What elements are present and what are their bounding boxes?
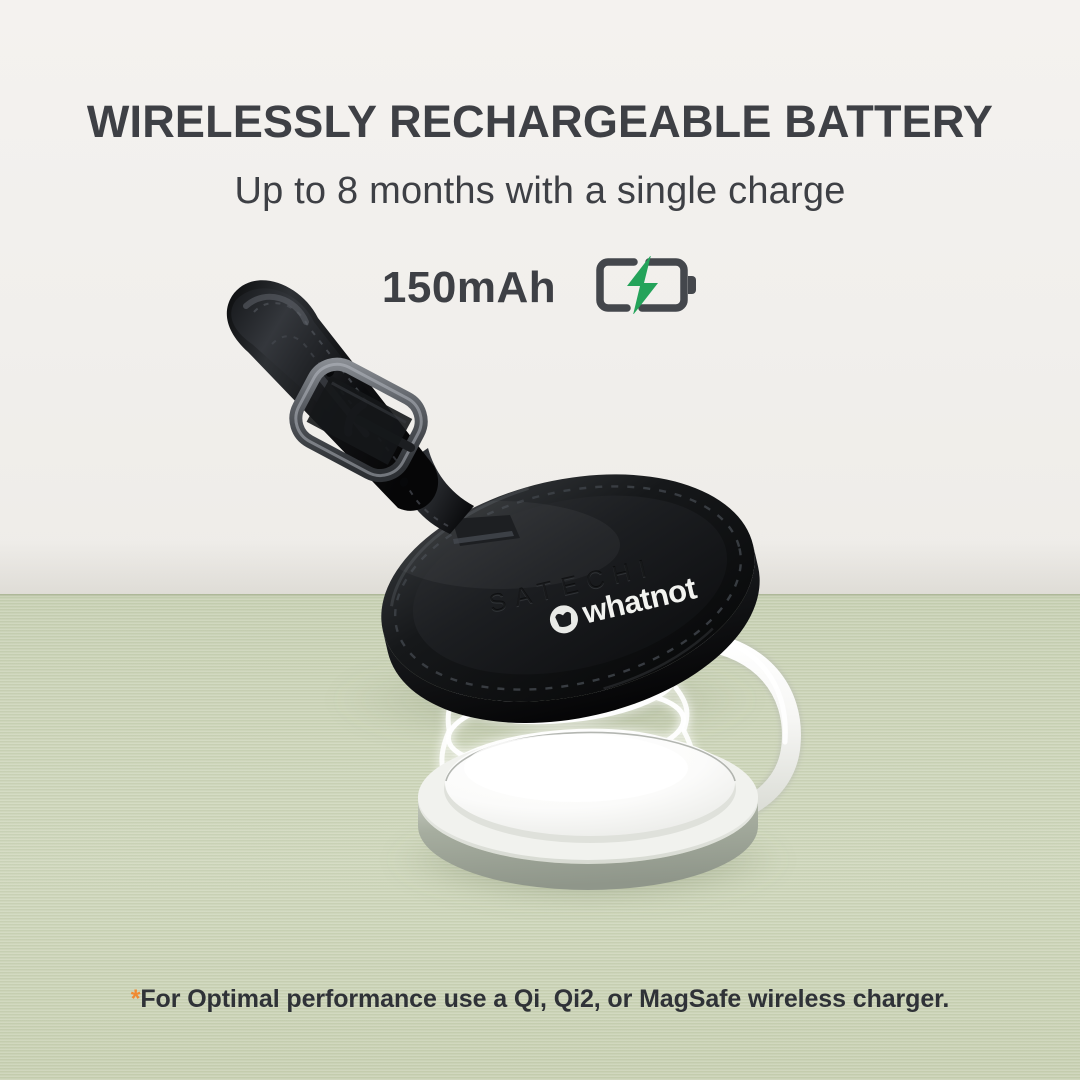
footnote-text: For Optimal performance use a Qi, Qi2, o… xyxy=(140,985,949,1013)
product-illustration: SATECHI SATECHI whatnot xyxy=(0,0,1080,1080)
magsafe-charging-puck xyxy=(418,730,758,890)
footnote-asterisk: * xyxy=(131,985,141,1013)
marketing-image-canvas: WIRELESSLY RECHARGEABLE BATTERY Up to 8 … xyxy=(0,0,1080,1080)
footnote-disclaimer: *For Optimal performance use a Qi, Qi2, … xyxy=(0,985,1080,1014)
